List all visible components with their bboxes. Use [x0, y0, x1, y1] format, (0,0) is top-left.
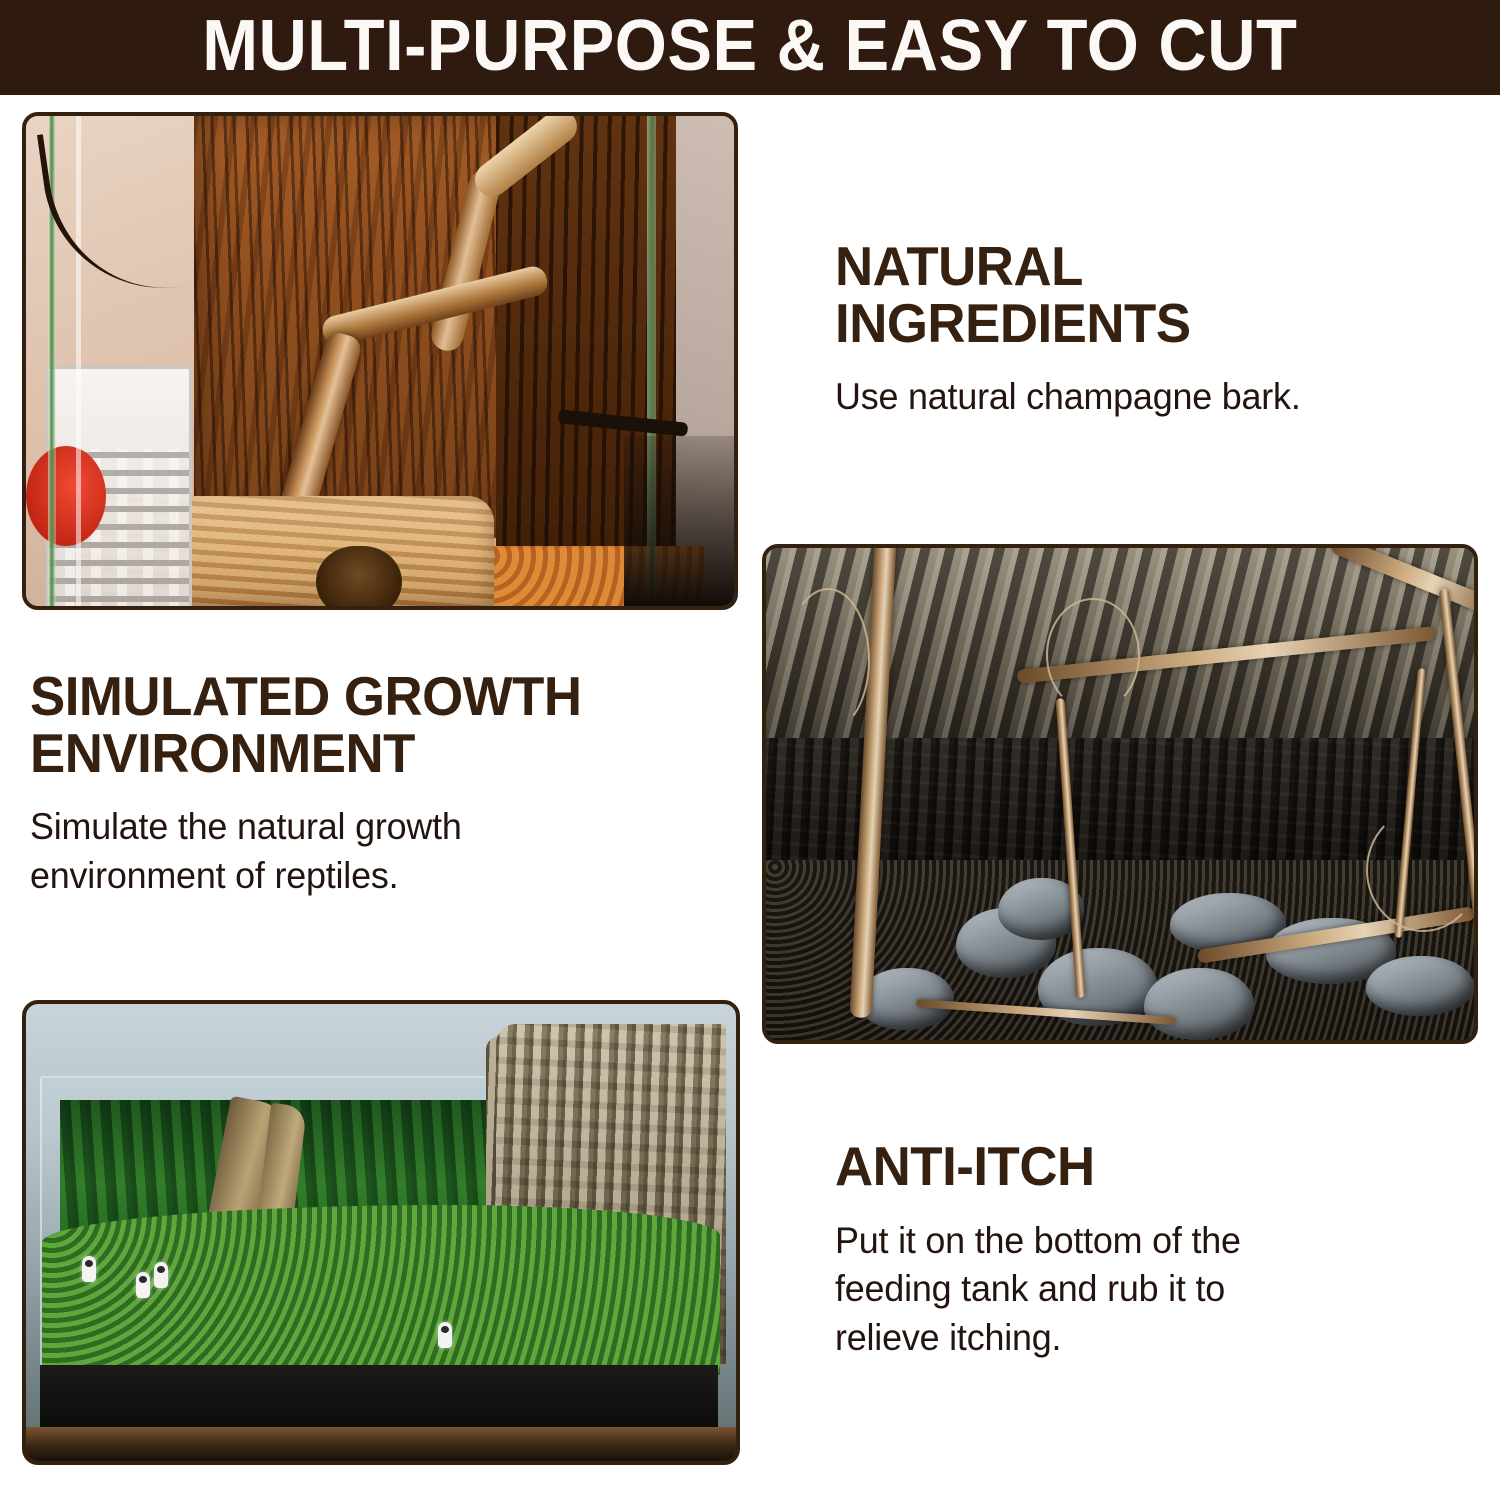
paludarium-scene [26, 1004, 736, 1461]
banner-title: MULTI-PURPOSE & EASY TO CUT [202, 10, 1297, 82]
figurine-kodama [82, 1256, 96, 1282]
red-bowl [26, 446, 106, 546]
figurine-kodama [136, 1272, 150, 1298]
feature-simulated-growth-environment: SIMULATED GROWTH ENVIRONMENT Simulate th… [30, 668, 750, 901]
feature-body: Use natural champagne bark. [835, 373, 1436, 422]
photo-mossy-paludarium [22, 1000, 740, 1465]
feature-body: Put it on the bottom of the feeding tank… [835, 1217, 1436, 1363]
river-stone [1144, 968, 1254, 1040]
figurine-kodama [438, 1322, 452, 1348]
vivarium-scene [766, 548, 1474, 1040]
feature-heading: SIMULATED GROWTH ENVIRONMENT [30, 668, 721, 781]
river-stone [1366, 956, 1474, 1016]
header-banner: MULTI-PURPOSE & EASY TO CUT [0, 0, 1500, 95]
cork-log-opening [316, 546, 402, 606]
feature-body: Simulate the natural growth environment … [30, 803, 728, 901]
hanging-vine-thin [786, 588, 870, 732]
photo-dark-vivarium-branches [762, 544, 1478, 1044]
paludarium-dark-substrate [40, 1365, 718, 1435]
terrarium-scene [26, 116, 734, 606]
feature-natural-ingredients: NATURAL INGREDIENTS Use natural champagn… [835, 238, 1455, 422]
wooden-tank-stand [26, 1427, 736, 1461]
terrarium-shadow-right [624, 436, 734, 606]
figurine-kodama [154, 1262, 168, 1288]
photo-terrarium-cork-bark [22, 112, 738, 610]
hanging-vine-loop [1046, 598, 1140, 712]
hanging-vine-curl [1366, 808, 1474, 932]
feature-heading: ANTI-ITCH [835, 1138, 1430, 1195]
feature-anti-itch: ANTI-ITCH Put it on the bottom of the fe… [835, 1138, 1455, 1363]
feature-heading: NATURAL INGREDIENTS [835, 238, 1430, 351]
